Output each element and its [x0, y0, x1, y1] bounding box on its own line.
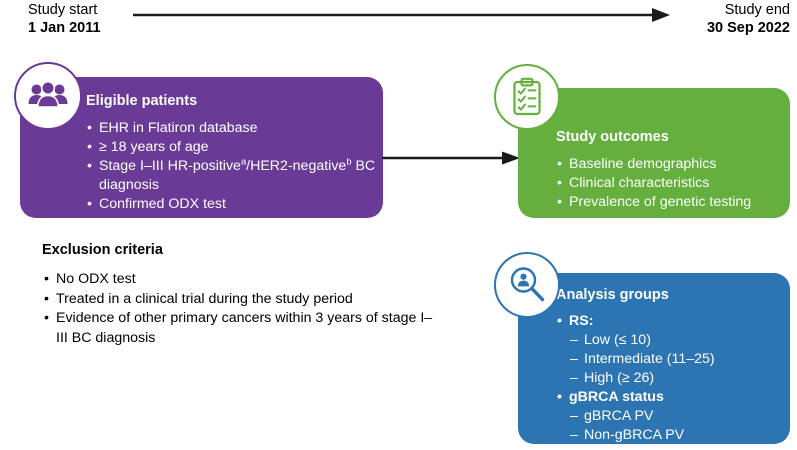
magnifier-person-icon	[494, 252, 560, 318]
bullet-glyph: •	[87, 195, 92, 214]
exclusion-criteria-title: Exclusion criteria	[42, 242, 442, 259]
eligible-patients-list: • EHR in Flatiron database • ≥ 18 years …	[86, 119, 376, 213]
exclusion-criteria-block: Exclusion criteria • No ODX test • Treat…	[42, 242, 442, 348]
list-item-label: No ODX test	[56, 271, 136, 287]
list-item: • RS: – Low (≤ 10) – Intermediate (11–25…	[556, 312, 786, 388]
list-item: • Stage I–III HR-positivea/HER2-negative…	[86, 157, 376, 195]
study-timeline: Study start 1 Jan 2011 Study end 30 Sep …	[0, 0, 797, 56]
list-item-label-part: Stage I–III HR-positive	[99, 158, 241, 174]
dash-glyph: –	[570, 369, 578, 388]
sub-list-item-label: Non-gBRCA PV	[584, 427, 684, 443]
dash-glyph: –	[570, 331, 578, 350]
sub-list-item: – High (≥ 26)	[569, 369, 786, 388]
dash-glyph: –	[570, 407, 578, 426]
bullet-glyph: •	[87, 119, 92, 138]
list-item-label: ≥ 18 years of age	[99, 139, 209, 155]
group-label: RS:	[569, 313, 593, 329]
sub-list-item: – Low (≤ 10)	[569, 331, 786, 350]
list-item: • Baseline demographics	[556, 155, 786, 174]
study-outcomes-title: Study outcomes	[556, 129, 790, 146]
timeline-start-label: Study start 1 Jan 2011	[28, 2, 101, 37]
list-item: • ≥ 18 years of age	[86, 138, 376, 157]
sub-list-item-label: Low (≤ 10)	[584, 332, 651, 348]
list-item-label: Treated in a clinical trial during the s…	[56, 291, 353, 307]
list-item-label: Confirmed ODX test	[99, 196, 226, 212]
sub-list-item-label: Intermediate (11–25)	[584, 351, 715, 367]
bullet-glyph: •	[557, 312, 562, 331]
timeline-end-caption: Study end	[707, 2, 790, 20]
analysis-groups-list: • RS: – Low (≤ 10) – Intermediate (11–25…	[556, 312, 786, 444]
timeline-arrow-icon	[133, 4, 673, 26]
flow-arrow-icon	[382, 148, 522, 168]
list-item: • gBRCA status – gBRCA PV – Non-gBRCA PV	[556, 388, 786, 445]
group-label: gBRCA status	[569, 389, 664, 405]
clipboard-check-icon	[494, 64, 560, 130]
dash-glyph: –	[570, 426, 578, 445]
bullet-glyph: •	[557, 155, 562, 174]
clipboard-check-glyph	[510, 77, 544, 117]
list-item-label: Baseline demographics	[569, 156, 716, 172]
list-item-label-part: /HER2-negative	[246, 158, 346, 174]
analysis-groups-card: Analysis groups • RS: – Low (≤ 10) – Int…	[518, 273, 790, 444]
people-group-icon	[14, 62, 82, 130]
bullet-glyph: •	[557, 193, 562, 212]
exclusion-criteria-list: • No ODX test • Treated in a clinical tr…	[42, 270, 442, 348]
study-outcomes-card: Study outcomes • Baseline demographics •…	[518, 88, 790, 218]
bullet-glyph: •	[87, 138, 92, 157]
sub-list-item-label: gBRCA PV	[584, 408, 653, 424]
analysis-groups-title: Analysis groups	[556, 287, 790, 304]
list-item: • Evidence of other primary cancers with…	[42, 309, 442, 348]
timeline-start-date: 1 Jan 2011	[28, 20, 101, 38]
dash-glyph: –	[570, 350, 578, 369]
bullet-glyph: •	[44, 309, 49, 328]
list-item-label: Evidence of other primary cancers within…	[56, 310, 432, 345]
timeline-end-label: Study end 30 Sep 2022	[707, 2, 790, 37]
magnifier-person-glyph	[508, 266, 546, 304]
timeline-start-caption: Study start	[28, 2, 101, 20]
list-item: • Confirmed ODX test	[86, 195, 376, 214]
eligible-patients-title: Eligible patients	[86, 93, 383, 110]
bullet-glyph: •	[44, 290, 49, 309]
timeline-end-date: 30 Sep 2022	[707, 20, 790, 38]
list-item: • Prevalence of genetic testing	[556, 193, 786, 212]
study-outcomes-list: • Baseline demographics • Clinical chara…	[556, 155, 786, 212]
analysis-subgroup-list: – Low (≤ 10) – Intermediate (11–25) – Hi…	[569, 331, 786, 388]
analysis-subgroup-list: – gBRCA PV – Non-gBRCA PV	[569, 407, 786, 445]
list-item: • Treated in a clinical trial during the…	[42, 290, 442, 309]
bullet-glyph: •	[557, 388, 562, 407]
list-item-label: Prevalence of genetic testing	[569, 194, 751, 210]
sub-list-item: – Non-gBRCA PV	[569, 426, 786, 445]
bullet-glyph: •	[557, 174, 562, 193]
sub-list-item: – Intermediate (11–25)	[569, 350, 786, 369]
list-item: • EHR in Flatiron database	[86, 119, 376, 138]
bullet-glyph: •	[44, 270, 49, 289]
list-item-label: EHR in Flatiron database	[99, 120, 258, 136]
sub-list-item-label: High (≥ 26)	[584, 370, 654, 386]
list-item: • Clinical characteristics	[556, 174, 786, 193]
list-item: • No ODX test	[42, 270, 442, 289]
bullet-glyph: •	[87, 157, 92, 176]
list-item-label: Clinical characteristics	[569, 175, 709, 191]
people-group-glyph	[28, 82, 68, 110]
sub-list-item: – gBRCA PV	[569, 407, 786, 426]
